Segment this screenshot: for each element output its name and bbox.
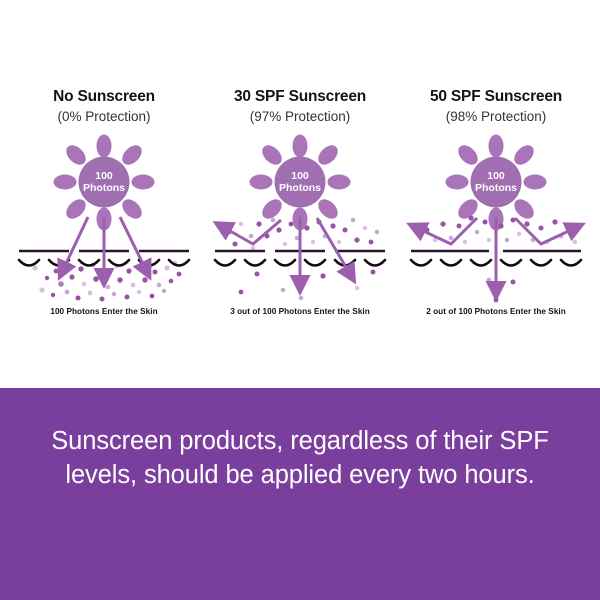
message-banner: Sunscreen products, regardless of their …: [0, 388, 600, 600]
right-ray: [120, 217, 146, 270]
panel-30-spf: 30 SPF Sunscreen (97% Protection): [202, 0, 398, 316]
left-ray: [63, 217, 88, 270]
banner-message: Sunscreen products, regardless of their …: [0, 424, 600, 492]
photon-dots-group: [227, 218, 380, 301]
panel-subtitle: (98% Protection): [446, 110, 547, 125]
panel-title: No Sunscreen: [53, 88, 155, 105]
sun-label-unit: Photons: [83, 182, 125, 194]
sun-rays-group: [417, 217, 575, 290]
sun-label-count: 100: [95, 170, 113, 182]
sun-label-count: 100: [291, 170, 309, 182]
sun-label-unit: Photons: [475, 182, 517, 194]
panel-title: 30 SPF Sunscreen: [234, 88, 366, 105]
panel-50-spf: 50 SPF Sunscreen (98% Protection): [398, 0, 594, 316]
diagram-30-spf: 100 Photons: [205, 132, 395, 304]
panel-caption: 2 out of 100 Photons Enter the Skin: [426, 307, 566, 316]
diagram-no-sunscreen: 100 Photons: [9, 132, 199, 304]
photon-dots-group: [32, 261, 181, 302]
panel-caption: 100 Photons Enter the Skin: [50, 307, 157, 316]
panel-row: No Sunscreen (0% Protection): [0, 0, 600, 388]
panel-title: 50 SPF Sunscreen: [430, 88, 562, 105]
left-ray: [223, 220, 281, 244]
sun-rays-group: [63, 217, 146, 277]
sun-label-count: 100: [487, 170, 505, 182]
panel-no-sunscreen: No Sunscreen (0% Protection): [6, 0, 202, 316]
panel-subtitle: (0% Protection): [57, 110, 150, 125]
sun-label-unit: Photons: [279, 182, 321, 194]
panel-subtitle: (97% Protection): [250, 110, 351, 125]
right-ray: [515, 218, 575, 244]
panel-caption: 3 out of 100 Photons Enter the Skin: [230, 307, 370, 316]
left-ray: [417, 218, 477, 244]
diagram-50-spf: 100 Photons: [401, 132, 591, 304]
sunscreen-spf-infographic: No Sunscreen (0% Protection): [0, 0, 600, 600]
